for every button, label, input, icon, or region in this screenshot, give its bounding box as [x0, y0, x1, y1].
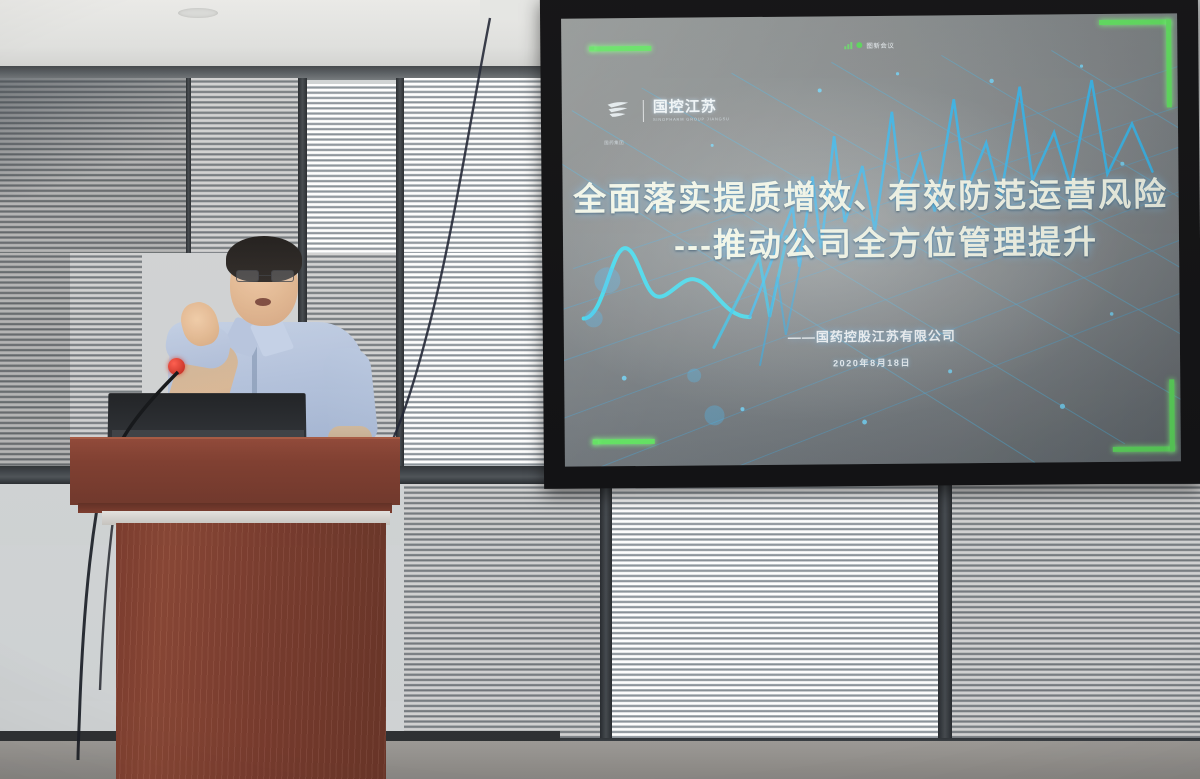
window-mullion-lower-1 [600, 484, 612, 744]
conference-room-photo: 图新会议 国药集团 国控江苏 SINO [0, 0, 1200, 779]
slide-title-line2: ---推动公司全方位管理提升 [563, 218, 1179, 270]
window-blinds-mid-far-right [404, 253, 544, 483]
window-blinds-upper-right [306, 84, 396, 253]
slide-footer-block: ——国药控股江苏有限公司 2020年8月18日 [564, 323, 1180, 371]
window-blinds-lower-1 [404, 484, 604, 739]
eyeglasses-icon [236, 270, 294, 282]
window-mullion-3 [186, 78, 191, 253]
presenter-mouth [255, 298, 271, 306]
window-blinds-lower-3 [950, 484, 1200, 739]
ceiling-vent [178, 8, 218, 18]
logo-divider [643, 100, 644, 122]
green-status-dot-icon [856, 42, 862, 48]
podium-front-panel [116, 523, 386, 779]
slide-logo: 国药集团 国控江苏 SINOPHARM GROUP JIANGSU [604, 95, 730, 126]
window-blinds-upper-mid [190, 78, 306, 253]
logo-sub-label: 国药集团 [604, 140, 624, 145]
signal-bars-icon [844, 42, 852, 49]
slide-title-block: 全面落实提质增效、有效防范运营风险 ---推动公司全方位管理提升 [562, 171, 1179, 270]
podium-wood-grain [116, 523, 386, 779]
logo-name-en: SINOPHARM GROUP JIANGSU [653, 117, 730, 122]
meeting-status-badge: 图新会议 [844, 40, 894, 50]
meeting-badge-label: 图新会议 [866, 40, 894, 50]
window-mullion-2 [396, 78, 404, 483]
screen-surface: 图新会议 国药集团 国控江苏 SINO [561, 13, 1181, 466]
sinopharm-bird-logo-icon: 国药集团 [604, 96, 634, 126]
podium [70, 437, 400, 779]
window-mullion-lower-2 [938, 484, 952, 744]
podium-top-surface [70, 437, 400, 505]
window-blinds-upper-far-right [404, 78, 544, 253]
logo-name-cn: 国控江苏 [653, 99, 730, 115]
logo-text: 国控江苏 SINOPHARM GROUP JIANGSU [653, 99, 730, 122]
ceiling [0, 0, 560, 68]
wall-shadow [0, 78, 190, 198]
projection-screen[interactable]: 图新会议 国药集团 国控江苏 SINO [540, 0, 1200, 489]
slide-title-line1: 全面落实提质增效、有效防范运营风险 [562, 171, 1178, 223]
window-blinds-lower-2 [612, 484, 942, 739]
slide-organization: ——国药控股江苏有限公司 [564, 323, 1180, 347]
